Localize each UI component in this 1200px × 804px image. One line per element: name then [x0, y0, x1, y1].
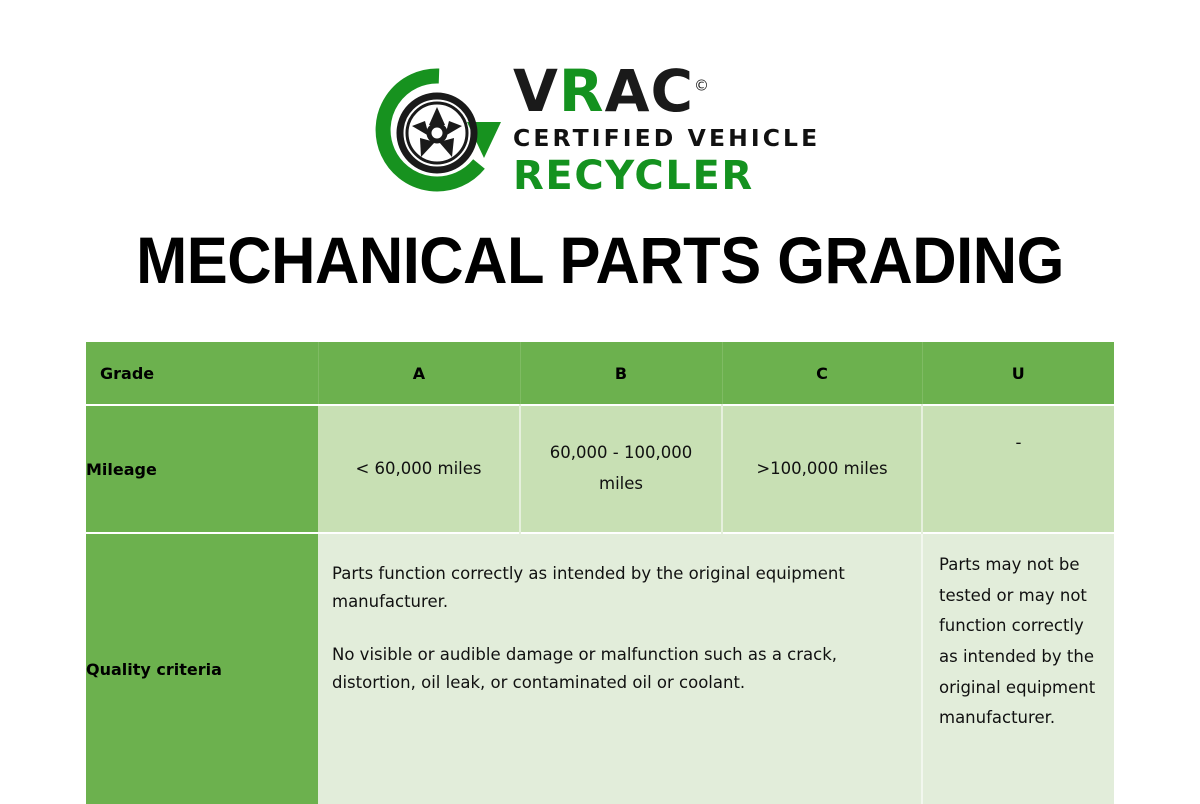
logo-wordmark-v: V	[513, 57, 559, 125]
vehicle-wheel-recycle-icon	[375, 66, 503, 194]
logo-wordmark-group: VRAC© CERTIFIED VEHICLE RECYCLER	[513, 63, 820, 198]
mileage-cell-a: < 60,000 miles	[318, 405, 520, 533]
table-header-row: Grade A B C U	[86, 342, 1114, 405]
header-cell-grade: Grade	[86, 342, 318, 405]
row-label-quality-criteria: Quality criteria	[86, 533, 318, 804]
page-title: MECHANICAL PARTS GRADING	[42, 222, 1158, 298]
logo-wordmark-ac: AC	[605, 57, 694, 125]
grading-poster: VRAC© CERTIFIED VEHICLE RECYCLER MECHANI…	[0, 0, 1200, 800]
logo-recycler: RECYCLER	[513, 155, 820, 197]
logo-tagline: CERTIFIED VEHICLE	[513, 124, 820, 152]
mileage-cell-b: 60,000 - 100,000 miles	[520, 405, 722, 533]
quality-abc-paragraph-2: No visible or audible damage or malfunct…	[332, 641, 903, 698]
mileage-cell-u: -	[922, 405, 1114, 533]
table-row-mileage: Mileage < 60,000 miles 60,000 - 100,000 …	[86, 405, 1114, 533]
vrac-logo: VRAC© CERTIFIED VEHICLE RECYCLER	[375, 55, 845, 205]
header-cell-a: A	[318, 342, 520, 405]
table-row-quality-criteria: Quality criteria Parts function correctl…	[86, 533, 1114, 804]
quality-abc-paragraph-1: Parts function correctly as intended by …	[332, 560, 903, 617]
copyright-icon: ©	[694, 76, 709, 94]
quality-cell-abc: Parts function correctly as intended by …	[318, 533, 922, 804]
row-label-mileage: Mileage	[86, 405, 318, 533]
logo-wordmark: VRAC©	[513, 63, 820, 120]
logo-wordmark-r: R	[559, 57, 605, 125]
header-cell-c: C	[722, 342, 922, 405]
mileage-cell-c: >100,000 miles	[722, 405, 922, 533]
quality-cell-u: Parts may not be tested or may not funct…	[922, 533, 1114, 804]
mechanical-parts-grading-table: Grade A B C U Mileage < 60,000 miles 60,…	[86, 342, 1114, 804]
header-cell-u: U	[922, 342, 1114, 405]
header-cell-b: B	[520, 342, 722, 405]
